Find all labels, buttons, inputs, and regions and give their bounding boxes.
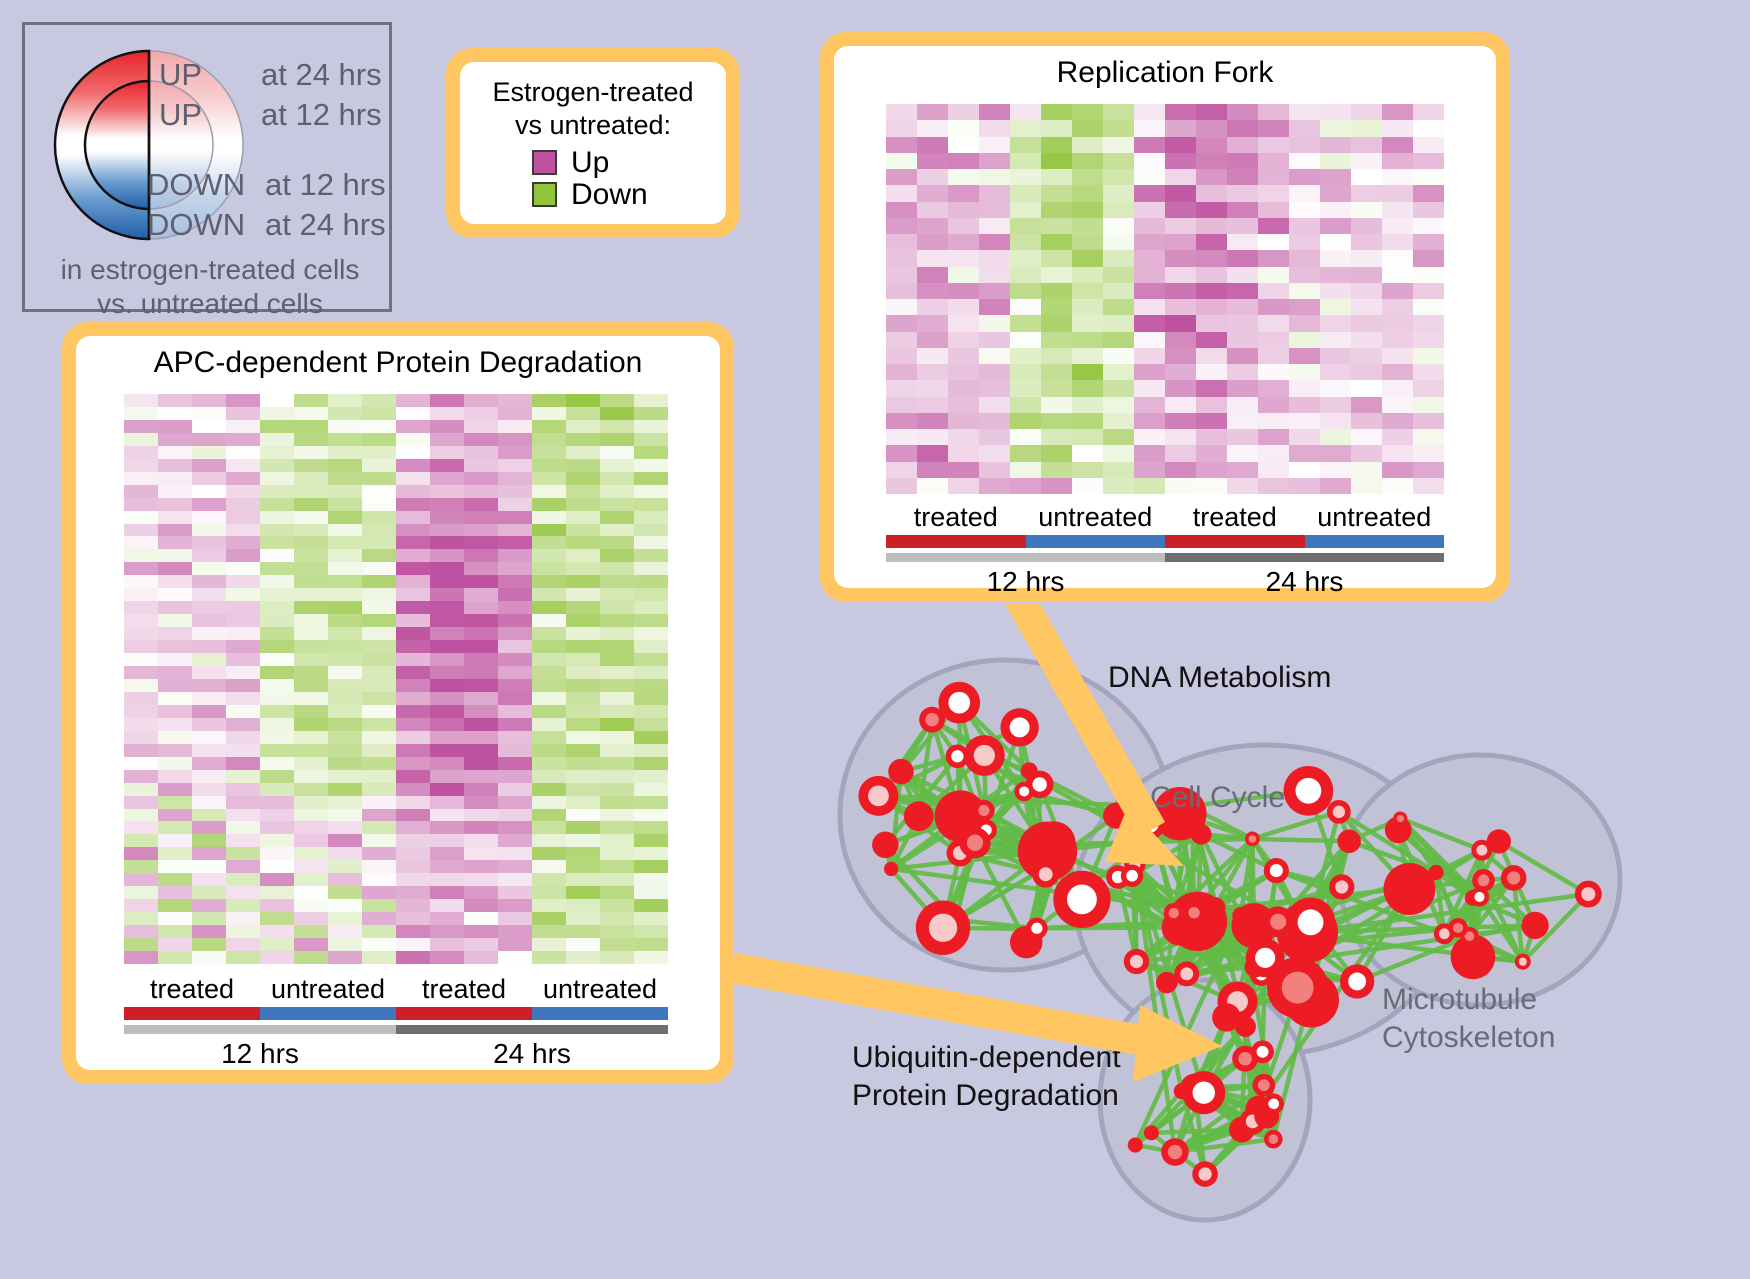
heatmap-cell [917,299,948,315]
heatmap-cell [948,429,979,445]
network-node[interactable] [1014,782,1033,801]
network-node-core [1188,907,1199,918]
heatmap-cell [948,462,979,478]
heatmap-cell [124,588,158,601]
heatmap-cell [634,783,668,796]
heatmap-cell [634,562,668,575]
heatmap-cell [634,536,668,549]
heatmap-cell [294,394,328,407]
heatmap-cell [566,524,600,537]
network-node[interactable] [1515,954,1531,970]
heatmap-cell [1320,234,1351,250]
heatmap-cell [226,524,260,537]
network-node[interactable] [904,801,934,831]
apc-treatment-bar [124,1007,668,1020]
heatmap-cell [158,912,192,925]
heatmap-cell [634,731,668,744]
network-node[interactable] [1032,821,1076,865]
heatmap-cell [1010,104,1041,120]
heatmap-cell [1227,120,1258,136]
heatmap-cell [226,886,260,899]
heatmap-cell [464,886,498,899]
heatmap-cell [1289,137,1320,153]
network-node[interactable] [1121,864,1143,886]
heatmap-cell [124,951,158,964]
heatmap-cell [1258,299,1289,315]
heatmap-cell [328,549,362,562]
heatmap-cell [1165,445,1196,461]
heatmap-cell [328,420,362,433]
heatmap-cell [430,718,464,731]
heatmap-cell [260,459,294,472]
heatmap-cell [1320,120,1351,136]
heatmap-cell [158,575,192,588]
heatmap-cell [362,627,396,640]
heatmap-cell [948,413,979,429]
heatmap-cell [260,472,294,485]
heatmap-cell [124,796,158,809]
heatmap-cell [1227,202,1258,218]
heatmap-cell [430,783,464,796]
heatmap-cell [124,640,158,653]
network-node[interactable] [1575,881,1602,908]
network-node[interactable] [1252,1074,1275,1097]
heatmap-cell [1289,397,1320,413]
network-node[interactable] [888,759,913,784]
heatmap-cell [566,485,600,498]
heatmap-cell [634,873,668,886]
network-node[interactable] [858,776,898,816]
heatmap-cell [396,692,430,705]
wheel-row-1-time: at 12 hrs [261,97,382,133]
heatmap-cell [294,821,328,834]
heatmap-cell [979,218,1010,234]
network-node[interactable] [1144,1125,1159,1140]
network-node[interactable] [1164,903,1184,923]
heatmap-cell [260,524,294,537]
network-node[interactable] [1000,708,1038,746]
heatmap-cell [328,536,362,549]
heatmap-cell [158,588,192,601]
heatmap-cell [396,575,430,588]
network-node-outer [1428,865,1443,880]
heatmap-cell [1165,478,1196,494]
heatmap-cell [260,873,294,886]
heatmap-cell [192,679,226,692]
heatmap-cell [948,137,979,153]
heatmap-cell [634,744,668,757]
heatmap-cell [1413,250,1444,266]
heatmap-cell [464,899,498,912]
heatmap-cell [192,472,226,485]
heatmap-cell [1103,120,1134,136]
heatmap-cell [634,899,668,912]
heatmap-cell [1165,380,1196,396]
heatmap-cell [948,169,979,185]
heatmap-cell [1320,462,1351,478]
heatmap-cell [294,731,328,744]
network-node-outer [1174,1083,1190,1099]
heatmap-cell [1165,397,1196,413]
heatmap-cell [396,640,430,653]
wheel-row-0-label: UP [159,57,202,93]
heatmap-cell [226,485,260,498]
legend-title: Estrogen-treated vs untreated: [470,76,716,142]
heatmap-cell [979,153,1010,169]
heatmap-cell [532,899,566,912]
network-node[interactable] [1487,829,1511,853]
network-node[interactable] [1428,865,1443,880]
heatmap-cell [979,104,1010,120]
heatmap-cell [566,796,600,809]
network-node-outer [1156,972,1177,993]
heatmap-cell [532,860,566,873]
heatmap-cell [1382,250,1413,266]
network-node[interactable] [1212,1003,1240,1031]
heatmap-cell [948,218,979,234]
heatmap-cell [396,834,430,847]
heatmap-cell [192,536,226,549]
heatmap-cell [1351,315,1382,331]
heatmap-cell [226,446,260,459]
heatmap-cell [1072,429,1103,445]
heatmap-cell [362,705,396,718]
heatmap-cell [328,886,362,899]
heatmap-cell [498,951,532,964]
heatmap-cell [1351,185,1382,201]
network-node[interactable] [1264,858,1289,883]
heatmap-cell [917,380,948,396]
heatmap-cell [600,705,634,718]
heatmap-cell [1351,104,1382,120]
network-node[interactable] [1470,887,1489,906]
heatmap-cell [1103,283,1134,299]
network-node[interactable] [872,832,899,859]
heatmap-cell [1010,120,1041,136]
network-node[interactable] [1393,811,1407,825]
heatmap-cell [124,938,158,951]
heatmap-cell [1196,218,1227,234]
heatmap-cell [1010,218,1041,234]
heatmap-cell [396,653,430,666]
heatmap-cell [1165,462,1196,478]
cluster-label-microtubule: Microtubule [1382,982,1537,1018]
heatmap-cell [1382,283,1413,299]
heatmap-cell [1010,380,1041,396]
heatmap-cell [260,498,294,511]
network-node-core [929,914,957,942]
heatmap-cell [260,821,294,834]
rf-time-swatch [1165,553,1444,562]
heatmap-cell [124,692,158,705]
rf-treatment-swatch [1026,535,1166,548]
network-node[interactable] [919,707,945,733]
heatmap-cell [1165,429,1196,445]
heatmap-cell [1103,299,1134,315]
network-node[interactable] [959,827,990,858]
heatmap-cell [1413,478,1444,494]
network-node[interactable] [1124,949,1149,974]
network-node-core [1010,717,1030,737]
heatmap-cell [192,912,226,925]
network-node[interactable] [1191,824,1212,845]
heatmap-cell [1227,315,1258,331]
network-node-core [1130,955,1143,968]
heatmap-cell [430,562,464,575]
heatmap-cell [634,549,668,562]
network-node[interactable] [964,735,1005,776]
heatmap-cell [600,549,634,562]
heatmap-cell [1382,445,1413,461]
heatmap-cell [396,705,430,718]
heatmap-cell [1196,250,1227,266]
heatmap-cell [260,925,294,938]
heatmap-cell [158,796,192,809]
heatmap-cell [634,524,668,537]
apc-time-label: 12 hrs [124,1038,396,1070]
heatmap-cell [1196,299,1227,315]
apc-treatment-swatch [124,1007,260,1020]
network-node[interactable] [1192,1161,1218,1187]
heatmap-cell [532,407,566,420]
heatmap-cell [1165,218,1196,234]
heatmap-cell [1103,413,1134,429]
heatmap-cell [158,679,192,692]
network-node[interactable] [1103,803,1129,829]
cluster-label-ubiquitin-2: Protein Degradation [852,1078,1119,1114]
heatmap-cell [192,485,226,498]
legend-item-up: Up [532,148,716,178]
heatmap-cell [1103,397,1134,413]
heatmap-cell [979,445,1010,461]
rf-time-labels: 12 hrs24 hrs [886,566,1444,598]
heatmap-cell [1382,185,1413,201]
heatmap-cell [396,744,430,757]
heatmap-cell [124,472,158,485]
heatmap-cell [260,770,294,783]
network-node[interactable] [1340,964,1374,998]
heatmap-cell [1165,413,1196,429]
heatmap-cell [498,770,532,783]
heatmap-cell [464,627,498,640]
heatmap-cell [294,485,328,498]
network-node[interactable] [973,800,994,821]
heatmap-cell [1320,315,1351,331]
heatmap-cell [260,511,294,524]
network-node[interactable] [1026,917,1048,939]
heatmap-cell [1413,169,1444,185]
heatmap-cell [362,860,396,873]
heatmap-cell [362,821,396,834]
heatmap-cell [362,873,396,886]
heatmap-cell [260,614,294,627]
heatmap-cell [362,912,396,925]
heatmap-cell [1041,120,1072,136]
network-node[interactable] [1246,938,1285,977]
heatmap-cell [1258,380,1289,396]
heatmap-cell [917,267,948,283]
heatmap-cell [260,834,294,847]
heatmap-cell [1103,315,1134,331]
heatmap-cell [464,511,498,524]
heatmap-cell [396,536,430,549]
heatmap-cell [1165,364,1196,380]
heatmap-cell [362,562,396,575]
network-node[interactable] [1263,1094,1284,1115]
network-node[interactable] [1329,874,1354,899]
heatmap-cell [634,588,668,601]
network-node[interactable] [1245,831,1260,846]
heatmap-cell [464,524,498,537]
network-node[interactable] [916,901,970,955]
heatmap-cell [226,757,260,770]
network-node[interactable] [1521,912,1548,939]
network-node[interactable] [1383,863,1435,915]
network-node-core [1270,864,1283,877]
heatmap-cell [328,614,362,627]
heatmap-cell [886,120,917,136]
heatmap-cell [158,394,192,407]
heatmap-cell [566,860,600,873]
network-node[interactable] [1251,1040,1274,1063]
heatmap-cell [226,562,260,575]
heatmap-cell [600,809,634,822]
heatmap-cell [192,821,226,834]
network-node[interactable] [1264,1130,1283,1149]
rf-group-names: treateduntreatedtreateduntreated [886,502,1444,533]
network-node[interactable] [1161,1138,1189,1166]
heatmap-cell [1041,413,1072,429]
heatmap-cell [430,809,464,822]
network-node[interactable] [1337,829,1361,853]
heatmap-cell [226,407,260,420]
heatmap-cell [948,120,979,136]
network-node[interactable] [1128,1137,1143,1152]
heatmap-cell [917,397,948,413]
heatmap-cell [294,847,328,860]
heatmap-cell [1103,153,1134,169]
network-node[interactable] [884,862,898,876]
heatmap-cell [260,731,294,744]
rf-treatment-swatch [1165,535,1305,548]
heatmap-cell [600,783,634,796]
heatmap-cell [1258,153,1289,169]
heatmap-cell [1351,153,1382,169]
heatmap-cell [396,407,430,420]
heatmap-cell [917,202,948,218]
heatmap-cell [917,104,948,120]
heatmap-cell [566,433,600,446]
heatmap-cell [1041,283,1072,299]
heatmap-cell [1196,380,1227,396]
heatmap-cell [464,640,498,653]
heatmap-cell [979,250,1010,266]
heatmap-cell [498,705,532,718]
heatmap-cell [328,731,362,744]
heatmap-cell [396,847,430,860]
heatmap-cell [634,938,668,951]
apc-group-names: treateduntreatedtreateduntreated [124,974,668,1005]
network-node-outer [1128,1137,1143,1152]
network-node[interactable] [1448,918,1468,938]
heatmap-cell [396,770,430,783]
heatmap-cell [886,153,917,169]
heatmap-cell [430,601,464,614]
replication-fork-title: Replication Fork [834,56,1496,90]
network-node[interactable] [1501,865,1527,891]
heatmap-cell [158,847,192,860]
heatmap-cell [1072,348,1103,364]
heatmap-cell [1134,104,1165,120]
heatmap-cell [226,420,260,433]
heatmap-cell [1258,462,1289,478]
heatmap-cell [396,562,430,575]
network-node[interactable] [1183,902,1205,924]
heatmap-cell [464,472,498,485]
heatmap-cell [532,679,566,692]
heatmap-cell [294,472,328,485]
heatmap-cell [192,899,226,912]
network-node[interactable] [1174,1083,1190,1099]
network-node[interactable] [1053,871,1110,928]
heatmap-cell [260,886,294,899]
heatmap-cell [1289,120,1320,136]
heatmap-cell [566,873,600,886]
heatmap-cell [566,549,600,562]
heatmap-cell [1103,348,1134,364]
heatmap-cell [464,601,498,614]
heatmap-cell [1165,299,1196,315]
heatmap-cell [396,549,430,562]
heatmap-cell [979,267,1010,283]
heatmap-cell [464,666,498,679]
network-node[interactable] [1284,766,1334,816]
heatmap-cell [226,666,260,679]
heatmap-cell [600,912,634,925]
heatmap-cell [1382,397,1413,413]
heatmap-cell [1289,380,1320,396]
heatmap-cell [1010,299,1041,315]
heatmap-cell [1413,137,1444,153]
heatmap-cell [917,364,948,380]
network-node[interactable] [1174,961,1199,986]
heatmap-cell [260,420,294,433]
network-node-core [1249,835,1257,843]
heatmap-cell [566,666,600,679]
heatmap-cell [226,536,260,549]
heatmap-cell [1165,169,1196,185]
network-node[interactable] [1263,906,1294,937]
heatmap-cell [226,653,260,666]
heatmap-cell [886,397,917,413]
network-node[interactable] [1327,800,1351,824]
heatmap-cell [362,951,396,964]
heatmap-cell [192,718,226,731]
network-node[interactable] [1156,972,1177,993]
heatmap-cell [294,770,328,783]
network-node-core [1269,1134,1279,1144]
heatmap-cell [430,640,464,653]
heatmap-cell [1382,202,1413,218]
heatmap-cell [192,420,226,433]
heatmap-cell [1258,267,1289,283]
heatmap-cell [464,485,498,498]
heatmap-cell [396,627,430,640]
heatmap-cell [1382,218,1413,234]
network-node[interactable] [1032,861,1059,888]
heatmap-cell [948,315,979,331]
apc-heatmap [124,394,668,964]
